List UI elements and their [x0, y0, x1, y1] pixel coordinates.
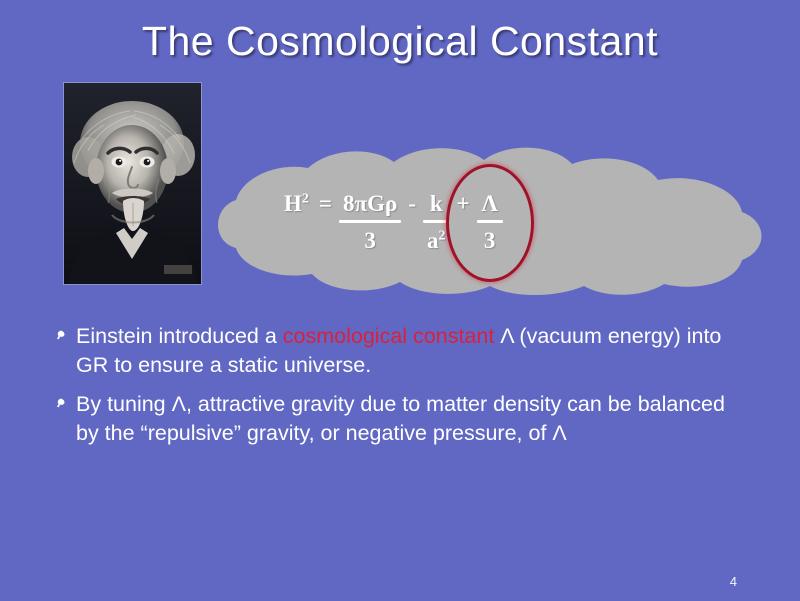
lambda-over-three-term: Λ 3	[477, 192, 503, 253]
fraction-bar	[477, 220, 503, 223]
matter-density-term: 8πGρ 3	[339, 192, 401, 253]
friedmann-equation: H2 = 8πGρ 3 - k a2 + Λ 3	[281, 192, 503, 253]
scale-factor-exponent: 2	[438, 228, 445, 243]
page-title: The Cosmological Constant	[0, 18, 800, 65]
plus-operator: +	[449, 192, 476, 216]
fraction-bar	[339, 220, 401, 223]
curvature-denominator: a2	[423, 229, 450, 253]
lambda-denominator: 3	[480, 229, 500, 253]
list-item: Einstein introduced a cosmological const…	[52, 322, 752, 380]
bullet-1-segment-1: Einstein introduced a	[76, 324, 283, 348]
fraction-bar	[423, 220, 450, 223]
matter-density-denominator: 3	[360, 229, 380, 253]
equation-lhs: H2	[281, 192, 312, 216]
minus-operator: -	[401, 192, 423, 216]
slide-canvas: The Cosmological Constant	[0, 0, 800, 601]
einstein-photo	[63, 82, 202, 285]
curvature-numerator: k	[426, 192, 447, 216]
bullet-1-highlight: cosmological constant	[283, 324, 495, 348]
list-item: By tuning Λ, attractive gravity due to m…	[52, 390, 752, 448]
bullet-text: Einstein introduced a cosmological const…	[76, 322, 752, 380]
matter-density-numerator: 8πGρ	[339, 192, 401, 216]
equation-lhs-exponent: 2	[302, 191, 309, 206]
curvature-term: k a2	[423, 192, 450, 253]
equals-sign: =	[312, 192, 339, 216]
bullet-list: Einstein introduced a cosmological const…	[52, 322, 752, 458]
slide-number: 4	[730, 574, 737, 589]
lambda-numerator: Λ	[477, 192, 502, 216]
equation-lhs-symbol: H	[284, 191, 302, 216]
pushpin-bullet-icon	[52, 391, 76, 414]
pushpin-bullet-icon	[52, 323, 76, 346]
scale-factor-symbol: a	[427, 228, 439, 253]
bullet-text: By tuning Λ, attractive gravity due to m…	[76, 390, 752, 448]
